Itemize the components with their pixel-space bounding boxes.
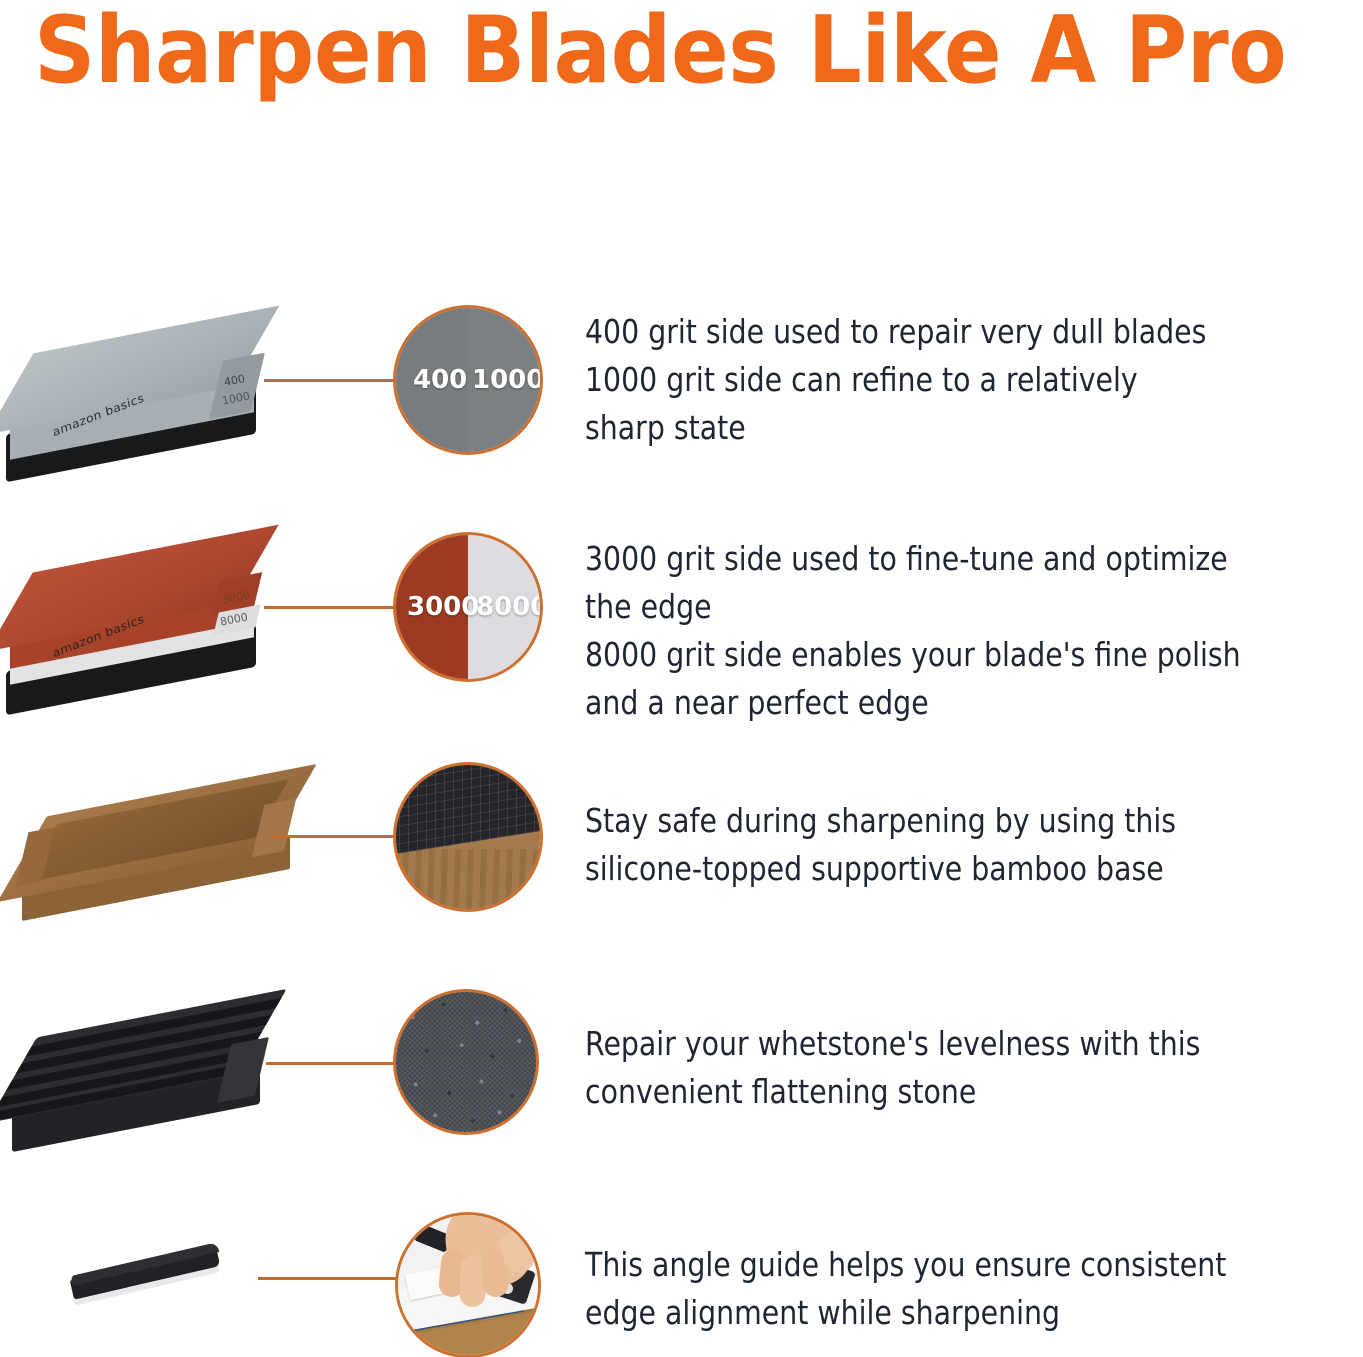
callout-grit-texture [396, 992, 536, 1132]
callout-bamboo-grain [396, 849, 540, 909]
desc-line: silicone-topped supportive bamboo base [585, 845, 1176, 893]
callout-circle-silicone-top-closeup [396, 765, 540, 909]
callout-circle-grit-closeup-400-1000: 400 1000 [396, 308, 540, 452]
feature-row-angle-guide: This angle guide helps you ensure consis… [0, 1215, 1363, 1357]
desc-line: This angle guide helps you ensure consis… [585, 1241, 1226, 1289]
connector-line-4 [266, 1062, 396, 1065]
callout-circle-angle-guide-in-use-closeup [398, 1215, 538, 1355]
feature-row-flattening-stone: Repair your whetstone's levelness with t… [0, 990, 1363, 1180]
desc-line: 1000 grit side can refine to a relativel… [585, 356, 1206, 404]
feature-description-4: Repair your whetstone's levelness with t… [585, 1020, 1200, 1116]
desc-line: the edge [585, 583, 1241, 631]
desc-line: and a near perfect edge [585, 679, 1241, 727]
page-title: Sharpen Blades Like A Pro [34, 0, 1251, 102]
callout-circle-flattening-stone-grit-closeup [396, 992, 536, 1132]
connector-line-2 [264, 606, 396, 609]
feature-row-whetstone-3000-8000: amazon basics 3000 8000 3000 8000 3000 g… [0, 533, 1363, 733]
feature-row-whetstone-400-1000: amazon basics 400 1000 400 1000 400 grit… [0, 300, 1363, 500]
desc-line: Stay safe during sharpening by using thi… [585, 797, 1176, 845]
desc-line: 8000 grit side enables your blade's fine… [585, 631, 1241, 679]
connector-line-3 [272, 835, 396, 838]
callout-label-3000: 3000 [407, 594, 479, 620]
infographic-page: Sharpen Blades Like A Pro amazon basics … [0, 0, 1363, 1357]
desc-line: 400 grit side used to repair very dull b… [585, 308, 1206, 356]
connector-line-1 [264, 379, 396, 382]
callout-circle-grit-closeup-3000-8000: 3000 8000 [396, 535, 540, 679]
feature-description-5: This angle guide helps you ensure consis… [585, 1241, 1226, 1337]
callout-label-1000: 1000 [472, 367, 540, 393]
desc-line: edge alignment while sharpening [585, 1289, 1226, 1337]
callout-label-400: 400 [413, 367, 467, 393]
desc-line: sharp state [585, 404, 1206, 452]
feature-description-3: Stay safe during sharpening by using thi… [585, 797, 1176, 893]
desc-line: convenient flattening stone [585, 1068, 1200, 1116]
feature-description-1: 400 grit side used to repair very dull b… [585, 308, 1206, 452]
desc-line: Repair your whetstone's levelness with t… [585, 1020, 1200, 1068]
feature-row-bamboo-base: Stay safe during sharpening by using thi… [0, 765, 1363, 955]
feature-description-2: 3000 grit side used to fine-tune and opt… [585, 535, 1241, 727]
desc-line: 3000 grit side used to fine-tune and opt… [585, 535, 1241, 583]
callout-label-8000: 8000 [476, 594, 540, 620]
connector-line-5 [258, 1277, 398, 1280]
